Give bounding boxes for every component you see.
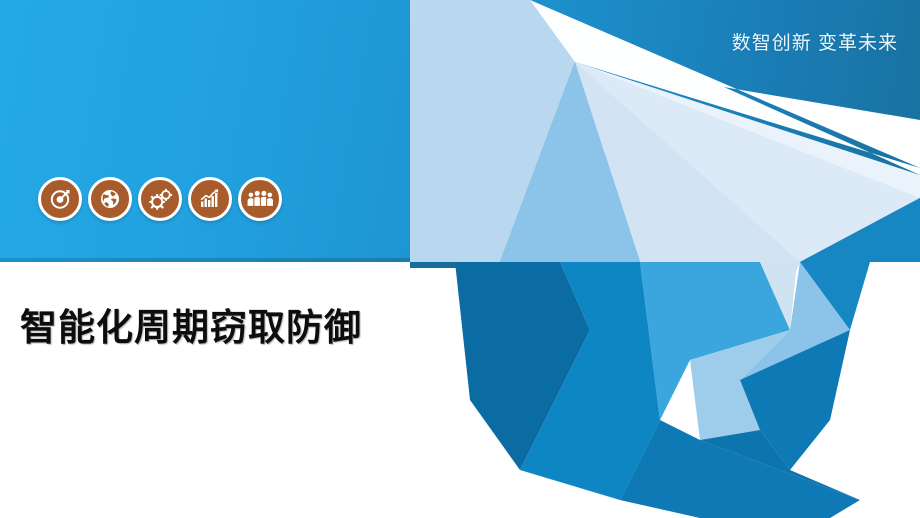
page-title: 智能化周期窃取防御 bbox=[20, 297, 362, 351]
globe-icon[interactable] bbox=[88, 177, 132, 221]
icon-row bbox=[38, 177, 282, 221]
globe-glyph bbox=[98, 187, 122, 211]
people-group-icon[interactable] bbox=[238, 177, 282, 221]
gears-icon[interactable] bbox=[138, 177, 182, 221]
gears-glyph bbox=[148, 187, 173, 212]
tagline-text: 数智创新 变革未来 bbox=[732, 28, 898, 55]
slide-canvas: 数智创新 变革未来 bbox=[0, 0, 920, 518]
bar-chart-glyph bbox=[198, 187, 222, 211]
people-group-glyph bbox=[247, 187, 273, 211]
target-arrow-icon[interactable] bbox=[38, 177, 82, 221]
bar-chart-icon[interactable] bbox=[188, 177, 232, 221]
target-arrow-glyph bbox=[48, 187, 72, 211]
low-poly-triangle-graphic bbox=[0, 0, 920, 518]
